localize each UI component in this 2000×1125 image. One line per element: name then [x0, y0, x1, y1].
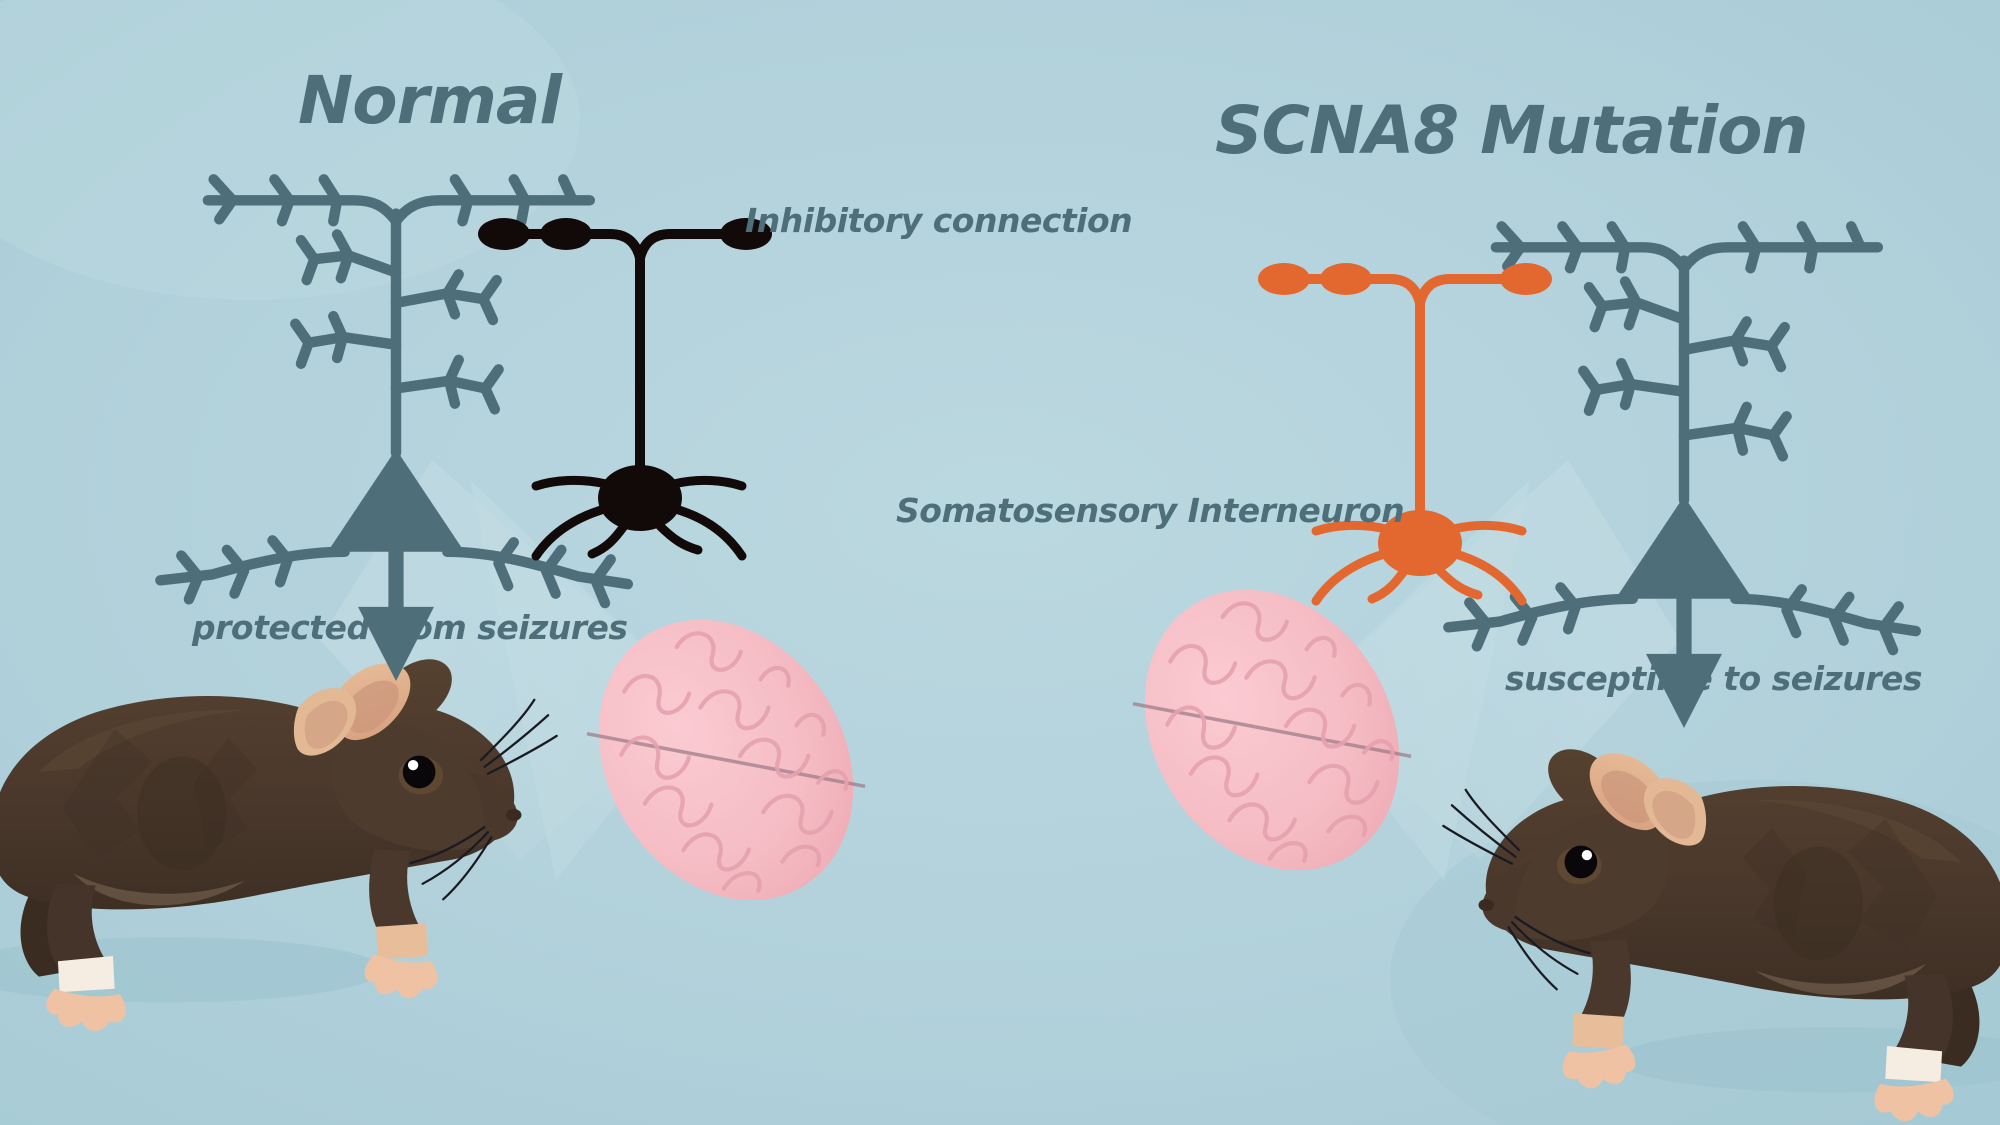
outcome-label-left: protected from seizures — [192, 611, 628, 644]
panel-title-mutation: SCNA8 Mutation — [1215, 98, 1807, 164]
interneuron-icon-left — [478, 218, 772, 556]
label-inhibitory-connection: Inhibitory connection — [745, 204, 1132, 237]
outcome-label-right: susceptible to seizures — [1505, 662, 1922, 695]
panel-title-normal: Normal — [298, 68, 561, 134]
label-somatosensory-interneuron: Somatosensory Interneuron — [896, 494, 1404, 527]
infographic-canvas: Normal SCNA8 Mutation Inhibitory connect… — [0, 0, 2000, 1125]
